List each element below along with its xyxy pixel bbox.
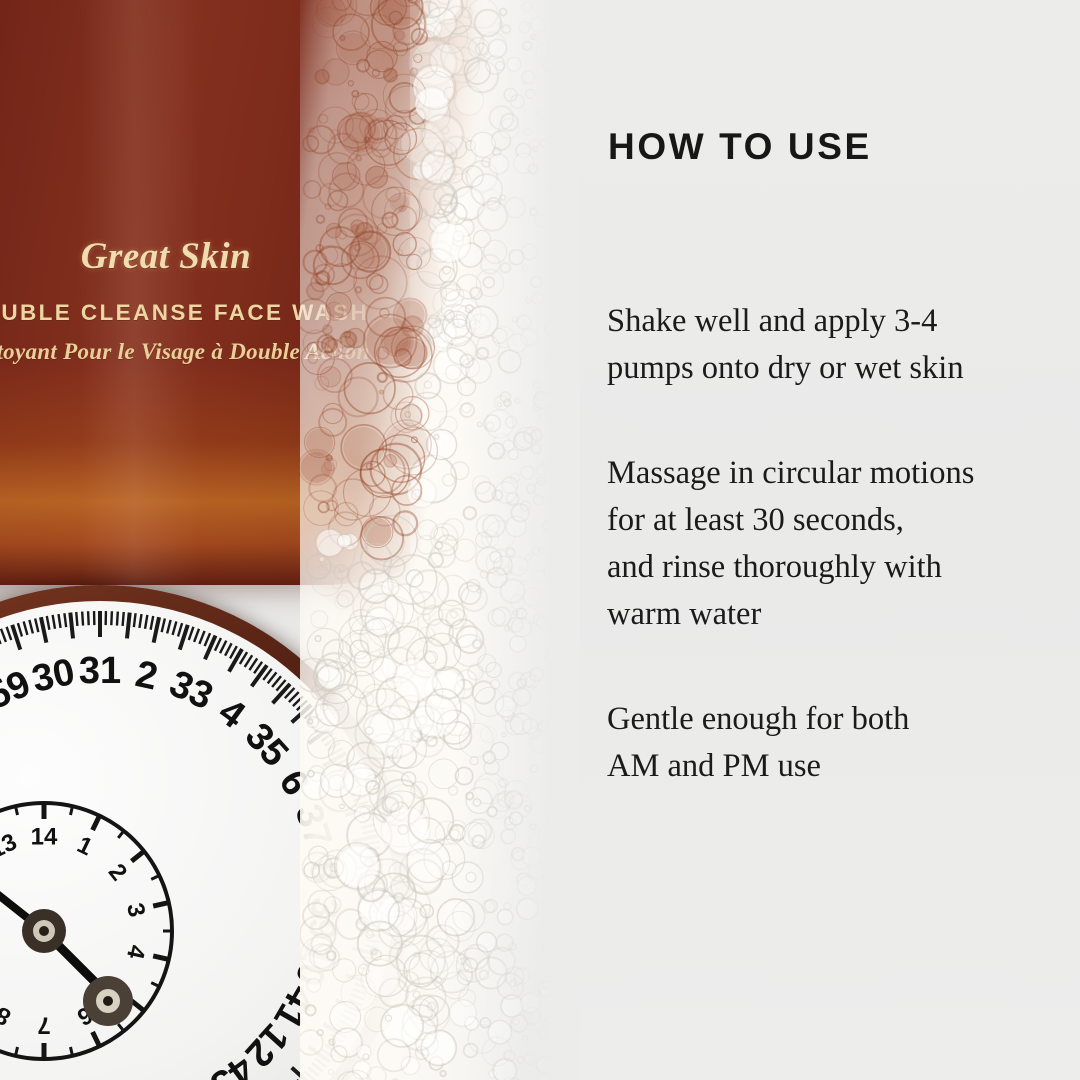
instructions-panel: HOW TO USE Shake well and apply 3-4 pump…: [580, 0, 1080, 1080]
svg-text:18: 18: [0, 1072, 37, 1080]
svg-text:33: 33: [163, 663, 219, 719]
svg-text:35: 35: [237, 715, 297, 775]
svg-text:14: 14: [31, 824, 58, 851]
product-photo: Great Skin DOUBLE CLEANSE FACE WASH Nett…: [0, 0, 580, 1080]
svg-text:1: 1: [73, 831, 97, 861]
svg-text:30: 30: [28, 651, 78, 701]
bottle-sheen: [80, 0, 200, 585]
instruction-step: Gentle enough for both AM and PM use: [607, 696, 1057, 790]
svg-text:4: 4: [121, 942, 150, 962]
svg-text:2: 2: [132, 653, 161, 698]
svg-text:3: 3: [121, 901, 150, 920]
instruction-steps-list: Shake well and apply 3-4 pumps onto dry …: [607, 298, 1057, 790]
instruction-step: Massage in circular motions for at least…: [607, 450, 1057, 638]
svg-text:7: 7: [37, 1012, 50, 1039]
svg-text:8: 8: [0, 1001, 15, 1031]
svg-text:4: 4: [211, 691, 253, 737]
photo-edge-fade: [460, 0, 580, 1080]
svg-text:13: 13: [0, 828, 21, 864]
how-to-use-product-card: Great Skin DOUBLE CLEANSE FACE WASH Nett…: [0, 0, 1080, 1080]
svg-text:2: 2: [103, 859, 132, 886]
page-title: HOW TO USE: [608, 126, 872, 168]
svg-text:31: 31: [79, 650, 121, 692]
instruction-step: Shake well and apply 3-4 pumps onto dry …: [607, 298, 1057, 392]
